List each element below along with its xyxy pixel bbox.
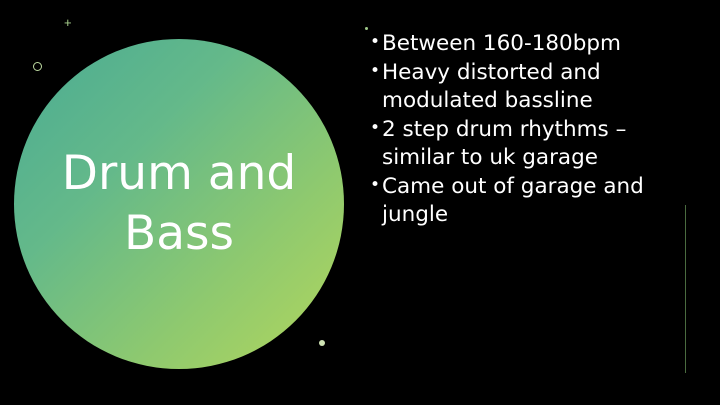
list-item: • Between 160-180bpm — [370, 30, 670, 58]
slide: + Drum and Bass • Between 160-180bpm • H… — [0, 0, 720, 405]
bottom-dot-icon — [319, 340, 325, 346]
bullet-icon: • — [370, 173, 382, 197]
plus-sparkle-icon: + — [64, 16, 72, 29]
small-dot-icon — [365, 27, 368, 30]
slide-title: Drum and Bass — [14, 144, 344, 264]
right-accent-line — [685, 205, 686, 373]
ring-dot-icon — [33, 62, 42, 71]
list-item-text: 2 step drum rhythms – similar to uk gara… — [382, 116, 670, 172]
bullet-icon: • — [370, 116, 382, 140]
bullet-icon: • — [370, 59, 382, 83]
list-item-text: Came out of garage and jungle — [382, 173, 670, 229]
list-item-text: Heavy distorted and modulated bassline — [382, 59, 670, 115]
list-item: • Came out of garage and jungle — [370, 173, 670, 229]
list-item-text: Between 160-180bpm — [382, 30, 670, 58]
list-item: • Heavy distorted and modulated bassline — [370, 59, 670, 115]
bullet-icon: • — [370, 30, 382, 54]
title-circle: Drum and Bass — [14, 39, 344, 369]
bullet-list: • Between 160-180bpm • Heavy distorted a… — [370, 30, 670, 230]
list-item: • 2 step drum rhythms – similar to uk ga… — [370, 116, 670, 172]
